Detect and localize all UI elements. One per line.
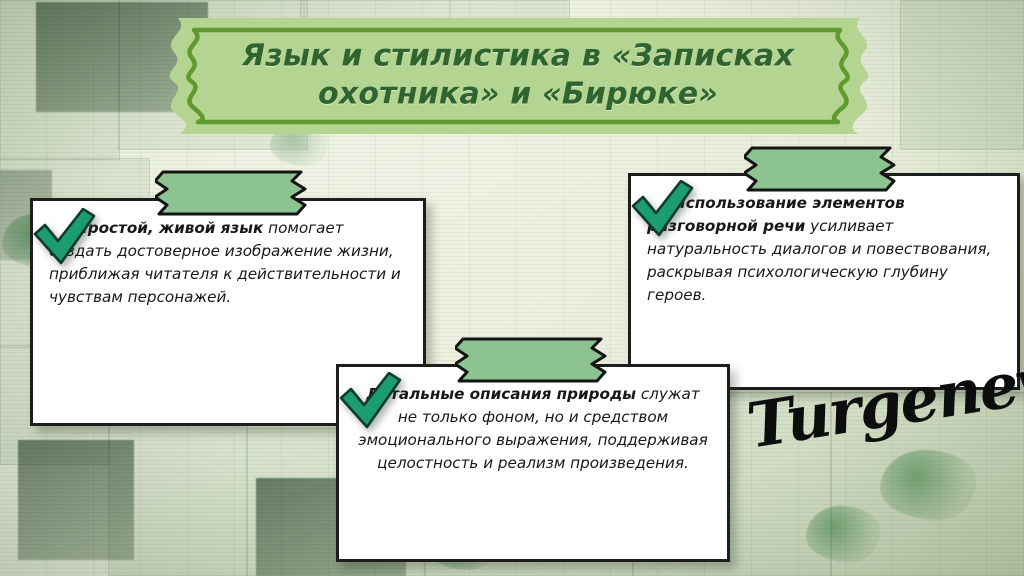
check-icon [629,180,695,240]
card-simple-language-lead: Простой, живой язык [75,219,263,237]
page-title: Язык и стилистика в «Записках охотника» … [194,38,842,115]
card-nature-descriptions-lead: Детальные описания природы [366,385,636,403]
ribbon-shape [455,337,617,383]
ribbon-shape [155,170,317,216]
ribbon-banner-card-3 [455,337,617,383]
page-title-line-1: Язык и стилистика в «Записках [194,38,842,76]
page-title-line-2: охотника» и «Бирюке» [194,76,842,114]
check-icon-card-1 [31,208,97,268]
background-photo-patch-2 [18,440,134,560]
ribbon-banner-card-1 [155,170,317,216]
check-icon [31,208,97,268]
slide-title-plaque: Язык и стилистика в «Записках охотника» … [148,12,888,140]
check-icon-card-2 [629,180,695,240]
check-icon [337,372,403,432]
check-icon-card-3 [337,372,403,432]
ribbon-shape [744,146,906,192]
author-signature: Turgenev [748,382,1018,532]
ribbon-banner-card-2 [744,146,906,192]
presentation-slide: Язык и стилистика в «Записках охотника» … [0,0,1024,576]
